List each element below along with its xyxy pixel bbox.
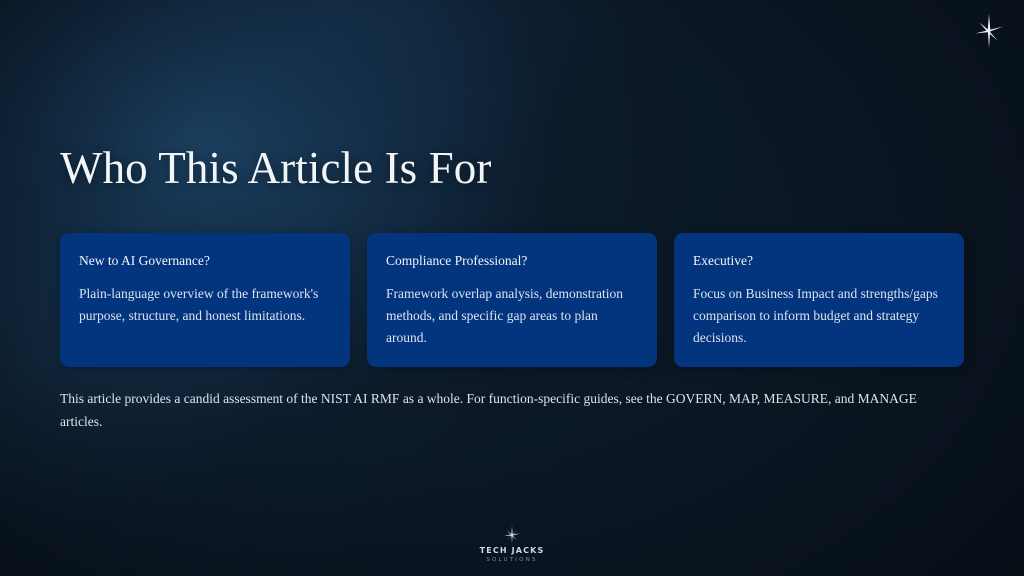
- footnote-text: This article provides a candid assessmen…: [60, 388, 920, 433]
- page-title: Who This Article Is For: [60, 140, 491, 196]
- card-heading: Compliance Professional?: [386, 252, 638, 269]
- brand-subtitle: SOLUTIONS: [486, 556, 537, 564]
- audience-card-compliance-professional[interactable]: Compliance Professional? Framework overl…: [367, 233, 657, 367]
- card-body: Framework overlap analysis, demonstratio…: [386, 283, 638, 348]
- slide-content: Who This Article Is For New to AI Govern…: [60, 0, 964, 576]
- card-body: Plain-language overview of the framework…: [79, 283, 331, 327]
- brand-footer: TECH JACKS SOLUTIONS: [0, 525, 1024, 564]
- sparkle-logo-icon: [501, 525, 523, 545]
- brand-name: TECH JACKS: [480, 546, 545, 555]
- sparkle-icon: [969, 11, 1009, 51]
- card-heading: New to AI Governance?: [79, 252, 331, 269]
- audience-card-executive[interactable]: Executive? Focus on Business Impact and …: [674, 233, 964, 367]
- slide-canvas: Who This Article Is For New to AI Govern…: [0, 0, 1024, 576]
- card-body: Focus on Business Impact and strengths/g…: [693, 283, 945, 348]
- audience-card-new-to-ai-governance[interactable]: New to AI Governance? Plain-language ove…: [60, 233, 350, 367]
- audience-card-group: New to AI Governance? Plain-language ove…: [60, 233, 964, 367]
- card-heading: Executive?: [693, 252, 945, 269]
